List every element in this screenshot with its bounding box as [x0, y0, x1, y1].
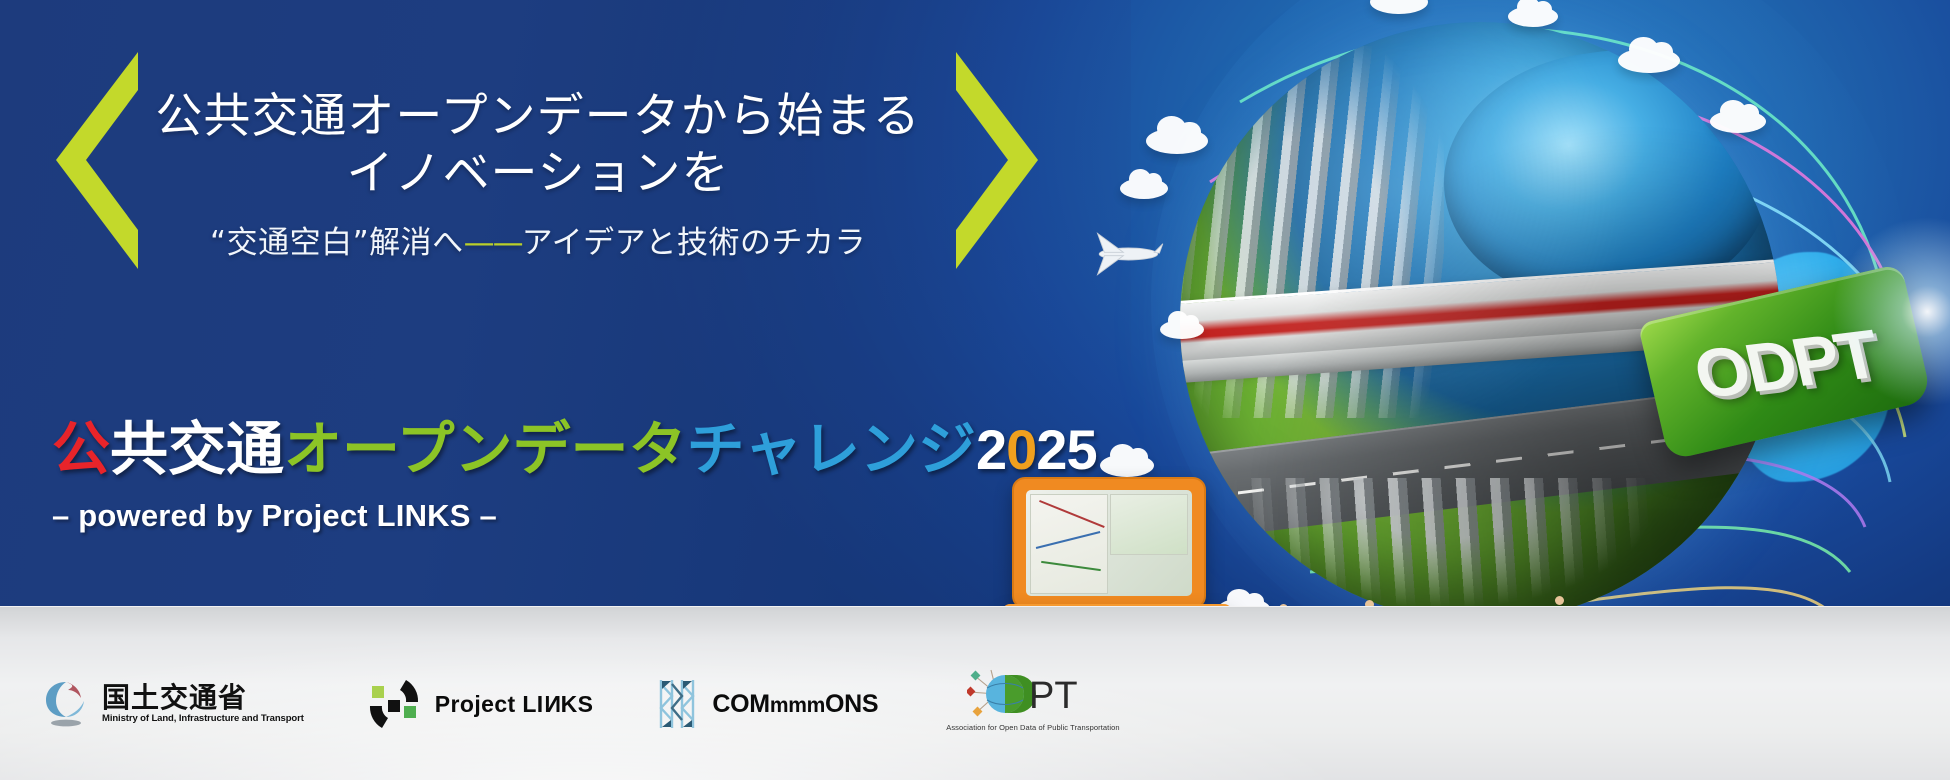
event-banner: ODPT — [0, 0, 1950, 780]
commons-tail: ONS — [825, 690, 878, 718]
earth-artwork: ODPT — [1060, 0, 1950, 682]
logo-commons[interactable]: COMmmmONS — [655, 676, 878, 732]
mlit-name-en: Ministry of Land, Infrastructure and Tra… — [102, 714, 304, 724]
subline-pre: “交通空白”解消へ — [210, 225, 464, 261]
commons-lead: COM — [712, 690, 769, 718]
title-year-0: 0 — [1006, 418, 1036, 481]
commons-wordmark: COMmmmONS — [712, 690, 878, 719]
mlit-name-ja: 国土交通省 — [102, 684, 304, 712]
cloud-icon — [1160, 320, 1204, 339]
cloud-icon — [1146, 128, 1208, 154]
project-links-wordmark: Project LINKS — [435, 691, 594, 718]
cloud-icon — [1100, 454, 1154, 477]
subline-post: アイデアと技術のチカラ — [522, 225, 866, 261]
title-year-25: 25 — [1036, 418, 1096, 481]
powered-by-label: – powered by Project LINKS – — [52, 498, 1097, 534]
logo-odpt[interactable]: PT Association for Open Data of Public T… — [940, 668, 1113, 732]
project-links-emblem-icon — [366, 676, 422, 732]
title-seg-red: 公 — [52, 415, 110, 483]
title-seg-white: 共交通 — [110, 415, 284, 483]
links-word-b: KS — [561, 691, 594, 717]
subline-dash: —— — [464, 225, 522, 261]
cloud-icon — [1120, 178, 1168, 199]
airplane-icon — [1082, 228, 1168, 280]
title-seg-green: オープンデータ — [284, 415, 687, 483]
cloud-icon — [1710, 110, 1766, 133]
headline-subline: “交通空白”解消へ——アイデアと技術のチカラ — [118, 217, 958, 262]
links-word-a: Project LI — [435, 691, 544, 717]
main-title: 公共交通オープンデータチャレンジ2025 — [52, 420, 1097, 478]
commons-emblem-icon — [655, 676, 699, 732]
logo-mlit[interactable]: 国土交通省 Ministry of Land, Infrastructure a… — [40, 676, 304, 732]
mlit-text: 国土交通省 Ministry of Land, Infrastructure a… — [102, 684, 304, 724]
odpt-emblem-icon: PT — [967, 668, 1087, 720]
map-panel-right — [1110, 494, 1188, 555]
mlit-emblem-icon — [40, 676, 92, 732]
odpt-mark-pt: PT — [1029, 675, 1078, 717]
footer-bar: 国土交通省 Ministry of Land, Infrastructure a… — [0, 606, 1950, 780]
logo-project-links[interactable]: Project LINKS — [366, 676, 594, 732]
commons-mid: mmm — [770, 694, 825, 717]
main-title-block: 公共交通オープンデータチャレンジ2025 – powered by Projec… — [52, 420, 1097, 534]
headline-line-2: イノベーションを — [118, 145, 958, 202]
odpt-logo-row: PT — [967, 668, 1087, 720]
chevron-right-icon — [952, 48, 1052, 273]
links-word-n: N — [544, 691, 561, 718]
headline-block: 公共交通オープンデータから始まる イノベーションを “交通空白”解消へ——アイデ… — [118, 88, 958, 262]
odpt-caption: Association for Open Data of Public Tran… — [946, 723, 1119, 732]
title-year-2: 2 — [976, 418, 1006, 481]
title-seg-blue: チャレンジ — [687, 415, 976, 483]
cloud-icon — [1508, 6, 1558, 27]
cloud-icon — [1618, 48, 1680, 73]
headline-line-1: 公共交通オープンデータから始まる — [118, 88, 958, 145]
sponsor-logo-row: 国土交通省 Ministry of Land, Infrastructure a… — [40, 668, 1114, 732]
